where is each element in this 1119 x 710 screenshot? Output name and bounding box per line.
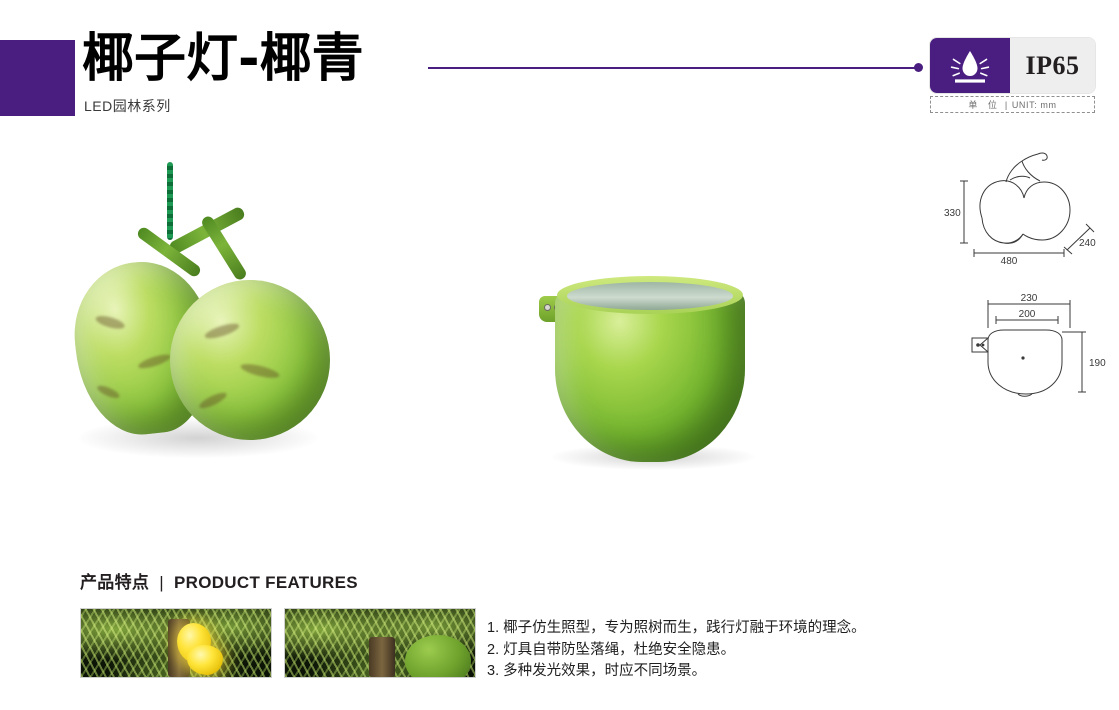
water-drop-splash-icon bbox=[947, 46, 993, 86]
unit-note: 单 位 | UNIT: mm bbox=[930, 96, 1095, 113]
header-divider-endpoint-dot bbox=[914, 63, 923, 72]
coconut-right bbox=[170, 280, 330, 440]
dimension-230: 230 bbox=[1021, 293, 1038, 304]
feature-item-2: 2. 灯具自带防坠落绳，杜绝安全隐患。 bbox=[487, 640, 967, 662]
features-heading-en: PRODUCT FEATURES bbox=[174, 573, 358, 592]
dimension-240: 240 bbox=[1079, 238, 1096, 249]
features-heading-cn: 产品特点 bbox=[80, 573, 149, 592]
unlit-coconut bbox=[405, 635, 471, 678]
palm-trunk bbox=[369, 637, 395, 677]
features-heading-separator: | bbox=[159, 573, 164, 592]
waterproof-icon-panel bbox=[930, 38, 1010, 93]
header-accent-block bbox=[0, 40, 75, 116]
application-photo-tree bbox=[284, 608, 476, 678]
ip-rating-badge: IP65 bbox=[930, 38, 1095, 93]
lit-coconut-lower bbox=[187, 645, 223, 675]
dimension-330: 330 bbox=[944, 208, 961, 219]
header-divider-line bbox=[428, 67, 915, 69]
dimension-200: 200 bbox=[1019, 309, 1036, 320]
coconut-pair-dimension-drawing: 330 480 240 bbox=[930, 140, 1110, 265]
dimension-190: 190 bbox=[1089, 358, 1106, 369]
page-subtitle: LED园林系列 bbox=[84, 96, 171, 116]
ip-rating-label: IP65 bbox=[1010, 38, 1095, 93]
unit-label-en: UNIT: mm bbox=[1012, 100, 1057, 110]
application-photo-lit bbox=[80, 608, 272, 678]
coconut-cup-photo bbox=[505, 258, 795, 473]
coconut-cup-dimension-drawing: 230 200 190 bbox=[950, 292, 1110, 402]
features-heading: 产品特点 | PRODUCT FEATURES bbox=[80, 568, 358, 593]
unit-label-cn: 单 位 bbox=[968, 98, 1001, 111]
feature-item-1: 1. 椰子仿生照型，专为照树而生，践行灯融于环境的理念。 bbox=[487, 618, 967, 640]
unit-separator: | bbox=[1005, 100, 1008, 110]
cup-inner-surface bbox=[567, 282, 733, 310]
product-catalog-page: 椰子灯-椰青 LED园林系列 IP65 单 位 | UNIT: mm bbox=[0, 0, 1119, 710]
coconut-pair-photo bbox=[70, 150, 340, 470]
page-title: 椰子灯-椰青 bbox=[82, 33, 364, 85]
hanging-chain bbox=[167, 162, 173, 240]
feature-item-3: 3. 多种发光效果，时应不同场景。 bbox=[487, 661, 967, 683]
features-list: 1. 椰子仿生照型，专为照树而生，践行灯融于环境的理念。 2. 灯具自带防坠落绳… bbox=[487, 618, 967, 683]
dimension-480: 480 bbox=[1001, 256, 1018, 265]
